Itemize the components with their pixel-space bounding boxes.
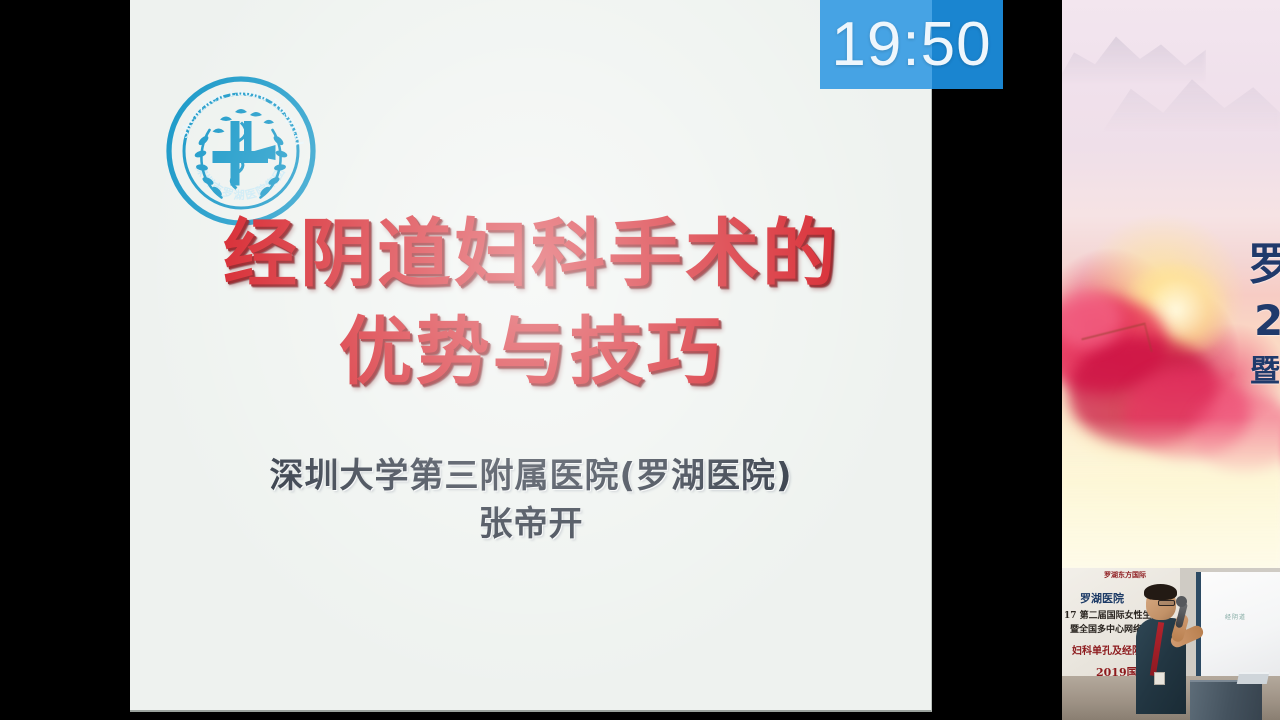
middle-letterbox-bar	[932, 0, 1062, 720]
banner-text-line-2: 罗湖东方国际	[1104, 570, 1154, 580]
slide-subtitle-presenter: 张帝开	[130, 500, 932, 548]
slide-subtitle-affiliation: 深圳大学第三附属医院(罗湖医院)	[130, 452, 932, 500]
hospital-logo-icon: Shenzhen Luohu Hospital Group 深圳市罗湖医院集团	[165, 76, 317, 226]
mountain-wash-decoration	[1062, 18, 1206, 84]
laptop	[1237, 672, 1270, 684]
conference-poster[interactable]: 罗 20 暨全	[1062, 0, 1280, 568]
left-letterbox-bar	[0, 0, 130, 720]
speaker-glasses	[1158, 600, 1175, 606]
projection-screen-text: 经阴道	[1225, 612, 1246, 621]
bottom-letterbox-bar	[130, 714, 932, 720]
poster-text-line-3: 暨全	[1250, 346, 1280, 390]
right-side-column: 罗 20 暨全 罗湖东方国际 罗湖医院 17 第二届国际女性生殖道发育 暨全国多…	[1062, 0, 1280, 720]
speaker-badge	[1154, 672, 1165, 685]
webinar-viewer-stage: Shenzhen Luohu Hospital Group 深圳市罗湖医院集团	[0, 0, 1280, 720]
podium	[1190, 680, 1262, 720]
poster-text-line-1: 罗	[1248, 228, 1280, 292]
projection-screen: 经阴道	[1196, 572, 1280, 676]
timer-value: 19:50	[831, 14, 991, 76]
countdown-timer: 19:50	[820, 0, 1003, 89]
slide-title-line-2: 优势与技巧	[130, 303, 932, 401]
presentation-slide[interactable]: Shenzhen Luohu Hospital Group 深圳市罗湖医院集团	[130, 0, 932, 712]
speaker-hair	[1144, 584, 1177, 600]
slide-subtitle: 深圳大学第三附属医院(罗湖医院) 张帝开	[130, 452, 932, 548]
slide-title: 经阴道妇科手术的 优势与技巧	[130, 205, 932, 401]
cream-wash-decoration	[1062, 418, 1280, 568]
poster-text-line-2: 20	[1254, 296, 1280, 345]
microphone-head-icon	[1176, 596, 1187, 607]
speaker-video-feed[interactable]: 罗湖东方国际 罗湖医院 17 第二届国际女性生殖道发育 暨全国多中心网络2018…	[1062, 568, 1280, 720]
